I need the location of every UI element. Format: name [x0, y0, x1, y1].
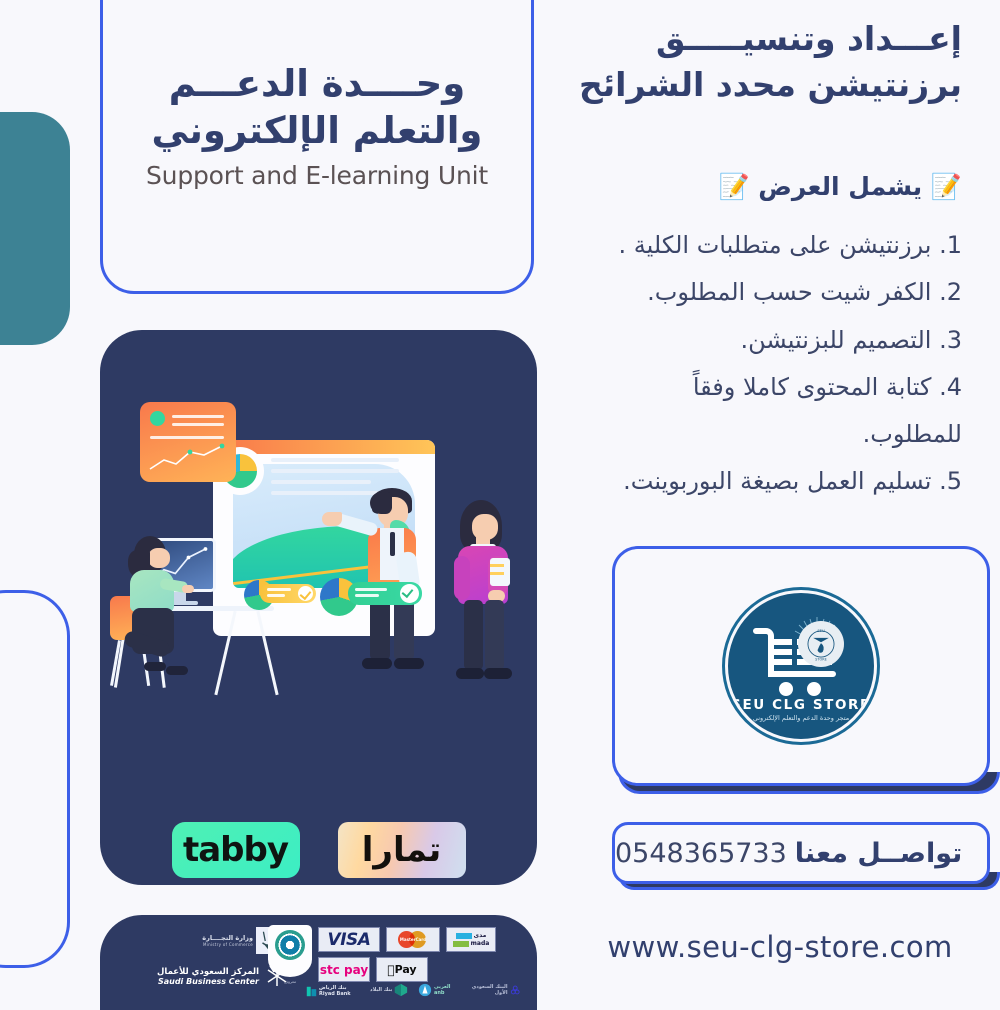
- unit-title-line1: وحــــدة الدعـــم: [100, 60, 534, 107]
- trust-badges-grid: وزارة التجــــارة Ministry of Commerce ا…: [118, 923, 520, 1003]
- offer-title: إعـــداد وتنسيـــــق برزنتيشن محدد الشرا…: [570, 16, 962, 107]
- whiteboard-header-bar: [213, 440, 435, 454]
- bnpl-badges-row: tabby تمارا: [100, 818, 537, 882]
- saudi-business-center-badge: المركز السعودي للأعمال Saudi Business Ce…: [120, 959, 290, 993]
- list-item: للمطلوب.: [570, 411, 962, 458]
- bank-riyad: بنك الرياض Riyad Bank: [306, 985, 351, 997]
- logo-name: SEU CLG STORE: [728, 697, 874, 713]
- anb-label-en: anb: [434, 990, 450, 996]
- list-item: 3. التصميم للبزنتيشن.: [570, 317, 962, 364]
- sab-icon: [510, 983, 520, 997]
- poster-canvas: وحــــدة الدعـــم والتعلم الإلكتروني Sup…: [0, 0, 1000, 1000]
- logo-tagline: متجر وحدة الدعم والتعلم الإلكتروني: [728, 714, 874, 722]
- pill-text-lines: [267, 588, 291, 600]
- left-outline-decor: [0, 590, 70, 968]
- sab-label-ar: البنك السعودي الأول: [470, 984, 508, 996]
- university-seal-icon: SEU STORE: [798, 621, 844, 667]
- right-column: إعـــداد وتنسيـــــق برزنتيشن محدد الشرا…: [560, 0, 1000, 1000]
- mada-label-ar: مدى: [474, 932, 487, 939]
- list-item: 5. تسليم العمل بصيغة البوربوينت.: [570, 458, 962, 505]
- visa-badge: VISA: [318, 927, 380, 952]
- illustration-panel: [100, 330, 537, 885]
- seu-clg-store-logo: SEU STORE SEU CLG STORE متجر وحدة الدعم …: [725, 590, 877, 742]
- standing-person: [454, 500, 518, 682]
- ministry-label-ar: وزارة التجــــارة: [202, 934, 253, 942]
- mada-badge: مدى mada: [446, 927, 496, 952]
- list-item: 1. برزنتيشن على متطلبات الكلية .: [570, 222, 962, 269]
- ministry-of-commerce-badge: وزارة التجــــارة Ministry of Commerce: [160, 927, 280, 953]
- unit-title-english: Support and E-learning Unit: [100, 161, 534, 190]
- svg-text:SEU: SEU: [817, 629, 825, 633]
- tabby-badge[interactable]: tabby: [172, 822, 300, 878]
- checklist-pill-yellow: [260, 584, 316, 603]
- applepay-badge:  Pay: [376, 957, 428, 982]
- sbc-label-ar: المركز السعودي للأعمال: [157, 967, 259, 977]
- teal-decor-block: [0, 112, 70, 345]
- trend-line-icon: [148, 443, 228, 473]
- check-icon: [298, 586, 313, 601]
- applepay-label: Pay: [395, 963, 417, 976]
- offer-subtitle: 📝 يشمل العرض 📝: [570, 172, 962, 202]
- mada-label-en: mada: [471, 940, 490, 947]
- contact-phone[interactable]: 0548365733: [615, 838, 787, 869]
- card-dot-icon: [150, 411, 165, 426]
- albilad-label-ar: بنك البلاد: [370, 987, 392, 993]
- sbc-label-en: Saudi Business Center: [157, 977, 259, 986]
- offer-title-line2: برزنتيشن محدد الشرائح: [570, 62, 962, 108]
- contact-label: تواصــل معنا: [795, 838, 962, 869]
- mastercard-label: MasterCard: [398, 937, 428, 942]
- bank-sab: البنك السعودي الأول: [470, 983, 520, 997]
- seated-person: [122, 536, 182, 676]
- list-item: 2. الكفر شيت حسب المطلوب.: [570, 269, 962, 316]
- business-presentation-illustration: [100, 388, 537, 718]
- maroof-caption: معروف: [270, 979, 310, 984]
- maroof-shield-icon: [268, 925, 312, 977]
- unit-header-text: وحــــدة الدعـــم والتعلم الإلكتروني Sup…: [100, 60, 534, 190]
- checklist-pill-green: [348, 582, 422, 605]
- logo-card: SEU STORE SEU CLG STORE متجر وحدة الدعم …: [612, 546, 990, 786]
- bank-alinma: العربي anb: [418, 983, 450, 997]
- contact-card[interactable]: تواصــل معنا 0548365733: [612, 822, 990, 884]
- stcpay-label: stc pay: [320, 963, 368, 977]
- check-icon: [400, 584, 419, 603]
- offer-title-line1: إعـــداد وتنسيـــــق: [570, 16, 962, 62]
- riyad-label-en: Riyad Bank: [319, 991, 351, 997]
- website-url[interactable]: www.seu-clg-store.com: [560, 930, 1000, 964]
- offer-items-list: 1. برزنتيشن على متطلبات الكلية . 2. الكف…: [570, 222, 962, 506]
- svg-text:STORE: STORE: [815, 658, 827, 662]
- stcpay-badge: stc pay: [318, 957, 370, 982]
- trust-badges-panel: وزارة التجــــارة Ministry of Commerce ا…: [100, 915, 537, 1010]
- mastercard-badge: MasterCard: [386, 927, 440, 952]
- floating-stats-card: [140, 402, 236, 482]
- list-item: 4. كتابة المحتوى كاملا وفقاً: [570, 364, 962, 411]
- tamara-badge[interactable]: تمارا: [338, 822, 466, 878]
- ministry-label-en: Ministry of Commerce: [202, 942, 253, 947]
- bank-albilad: بنك البلاد: [370, 983, 408, 997]
- unit-title-line2: والتعلم الإلكتروني: [100, 107, 534, 154]
- pill-text-lines: [355, 588, 387, 600]
